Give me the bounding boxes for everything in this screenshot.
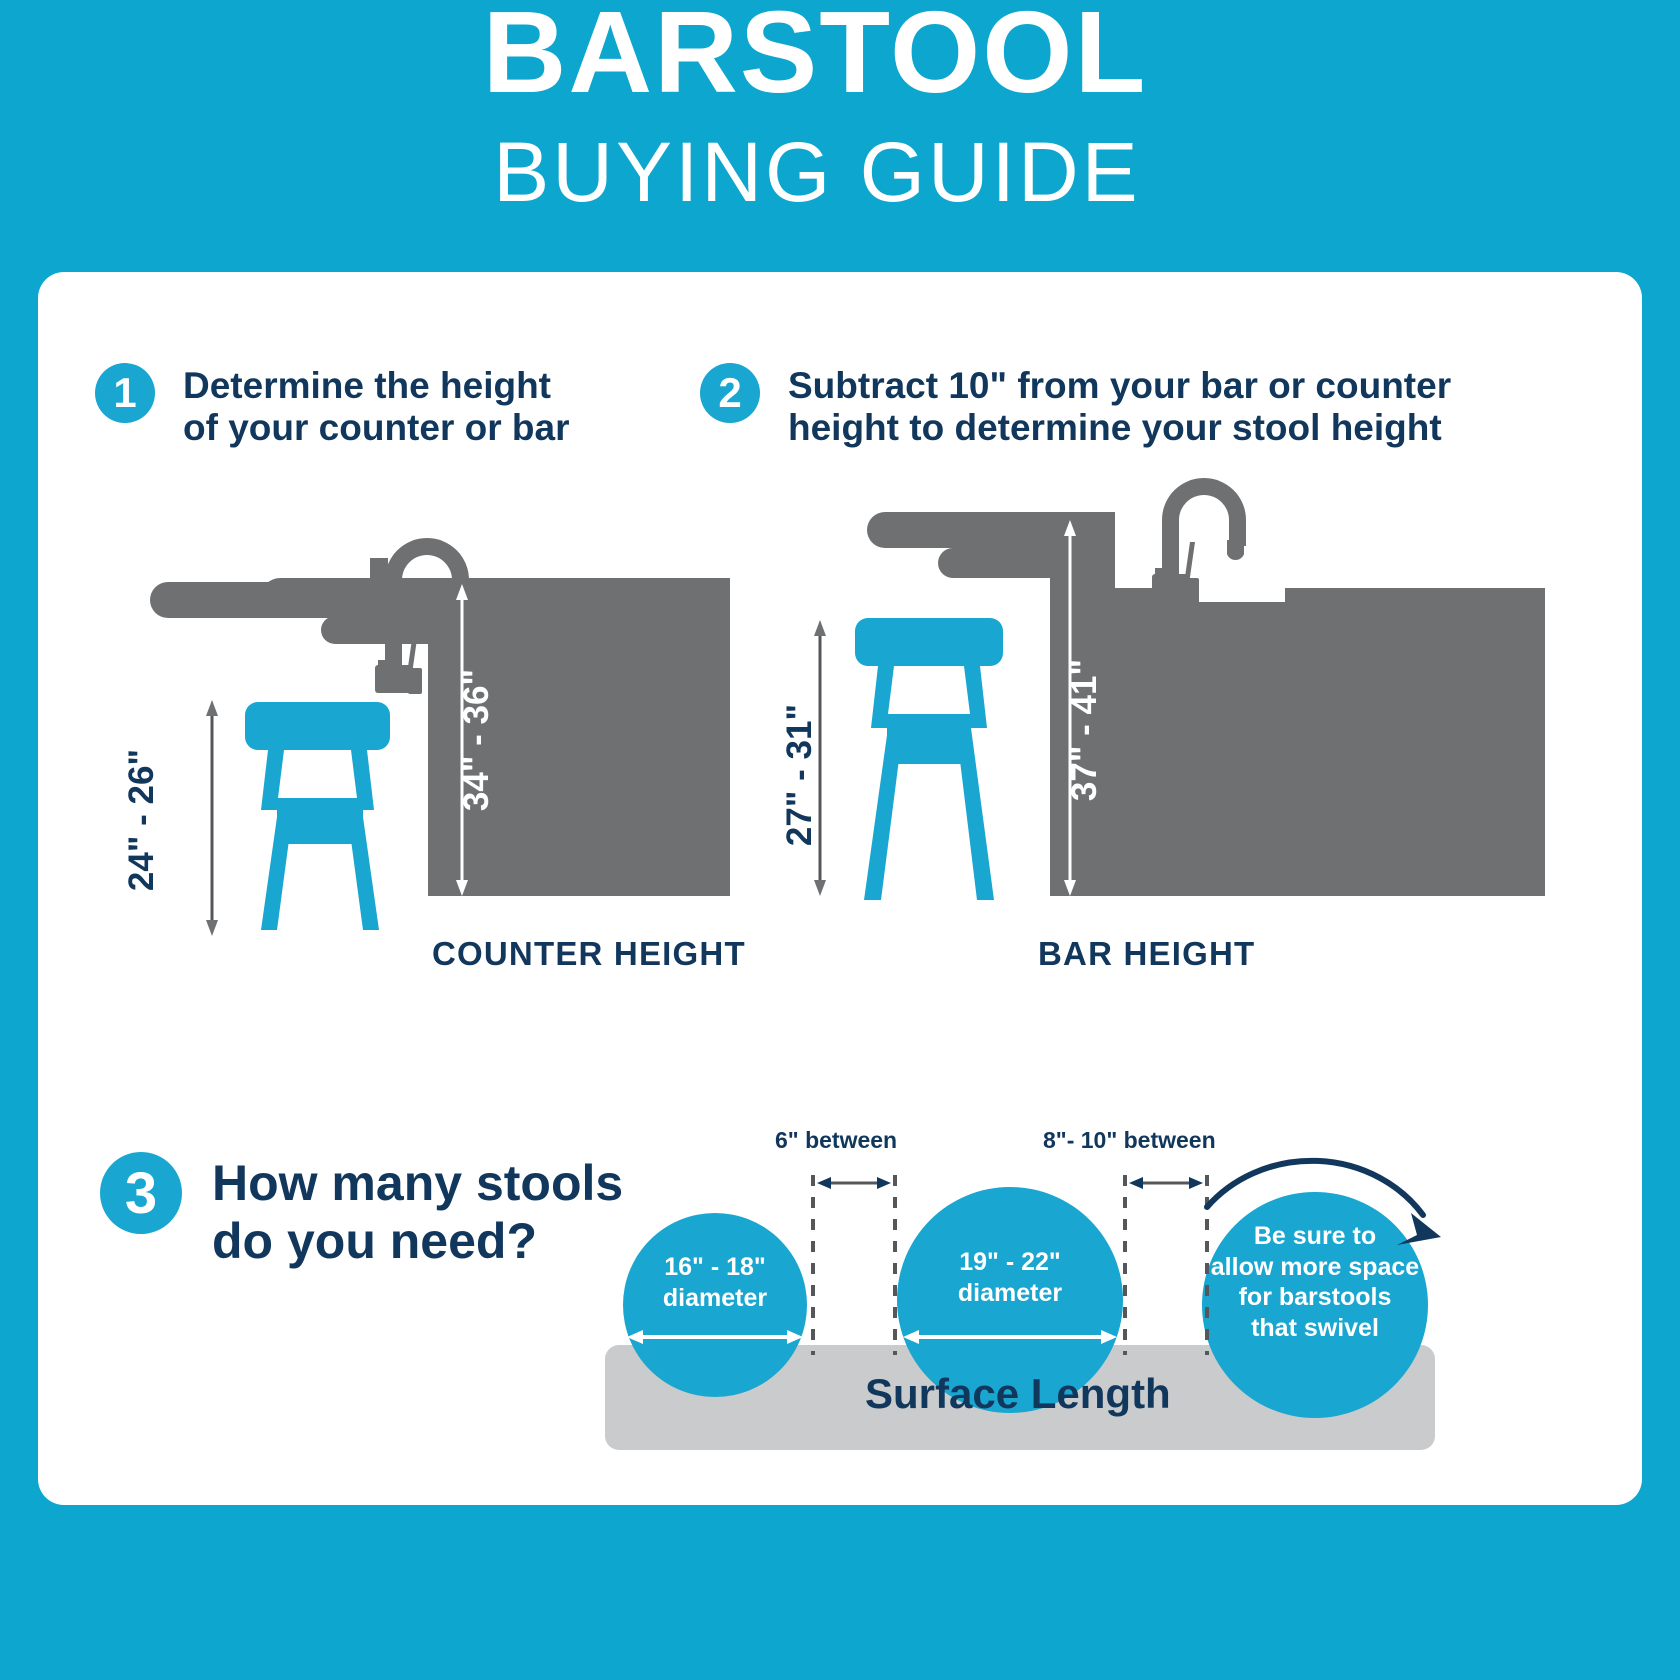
step-1-text: Determine the height of your counter or … bbox=[183, 365, 569, 449]
faucet-icon bbox=[1152, 478, 1246, 604]
stool-circle-1-text: 16" - 18" diameter bbox=[625, 1252, 805, 1313]
step-1-line-1: Determine the height bbox=[183, 365, 569, 407]
stool-spacing-diagram: 6" between 8"- 10" between 16" - 18" dia… bbox=[595, 1055, 1455, 1455]
page-title-main: BARSTOOL bbox=[483, 0, 1148, 110]
step-3-text: How many stools do you need? bbox=[212, 1154, 623, 1270]
step-3-line-1: How many stools bbox=[212, 1154, 623, 1212]
stool-circle-3-text: Be sure to allow more space for barstool… bbox=[1210, 1221, 1420, 1343]
stool-circle-2-line-2: diameter bbox=[910, 1278, 1110, 1309]
counter-height-diagram: 24" - 26" 34" - 36" bbox=[150, 470, 750, 1010]
step-1-badge: 1 bbox=[95, 363, 155, 423]
counter-stool-icon bbox=[245, 702, 390, 930]
step-3-line-2: do you need? bbox=[212, 1212, 623, 1270]
bar-stool-icon bbox=[855, 618, 1003, 900]
bar-height-diagram: 27" - 31" 37" - 41" bbox=[770, 470, 1550, 1010]
gap-guide-2 bbox=[1125, 1175, 1207, 1355]
page-title-sub: BUYING GUIDE bbox=[493, 128, 1140, 216]
bar-surface-height-label: 37" - 41" bbox=[1065, 630, 1105, 830]
stool-circle-3-line-1: Be sure to bbox=[1210, 1221, 1420, 1252]
step-3-badge: 3 bbox=[100, 1152, 182, 1234]
bar-stool-height-label: 27" - 31" bbox=[780, 675, 820, 875]
gap-1-label: 6" between bbox=[775, 1127, 897, 1154]
step-3-header: 3 How many stools do you need? bbox=[100, 1152, 623, 1270]
stool-circle-2-text: 19" - 22" diameter bbox=[910, 1247, 1110, 1308]
counter-surface-height-label: 34" - 36" bbox=[457, 640, 497, 840]
bar-height-caption: BAR HEIGHT bbox=[1038, 935, 1255, 973]
step-1-line-2: of your counter or bar bbox=[183, 407, 569, 449]
stool-circle-3-line-4: that swivel bbox=[1210, 1313, 1420, 1344]
step-2-line-1: Subtract 10" from your bar or counter bbox=[788, 365, 1451, 407]
bar-countertop bbox=[867, 512, 1545, 896]
step-2-header: 2 Subtract 10" from your bar or counter … bbox=[700, 363, 1451, 449]
step-1-header: 1 Determine the height of your counter o… bbox=[95, 363, 569, 449]
counter-stool-height-label: 24" - 26" bbox=[122, 720, 162, 920]
gap-guide-1 bbox=[813, 1175, 895, 1355]
page-header: BARSTOOL BUYING GUIDE bbox=[0, 0, 1680, 250]
gap-2-label: 8"- 10" between bbox=[1043, 1127, 1216, 1154]
stool-circle-1-line-1: 16" - 18" bbox=[625, 1252, 805, 1283]
step-2-line-2: height to determine your stool height bbox=[788, 407, 1451, 449]
stool-circle-2-line-1: 19" - 22" bbox=[910, 1247, 1110, 1278]
step-2-badge: 2 bbox=[700, 363, 760, 423]
surface-length-label: Surface Length bbox=[865, 1370, 1171, 1418]
counter-height-caption: COUNTER HEIGHT bbox=[432, 935, 746, 973]
stool-circle-1-line-2: diameter bbox=[625, 1283, 805, 1314]
step-2-text: Subtract 10" from your bar or counter he… bbox=[788, 365, 1451, 449]
stool-circle-3-line-2: allow more space bbox=[1210, 1252, 1420, 1283]
stool-circle-3-line-3: for barstools bbox=[1210, 1282, 1420, 1313]
